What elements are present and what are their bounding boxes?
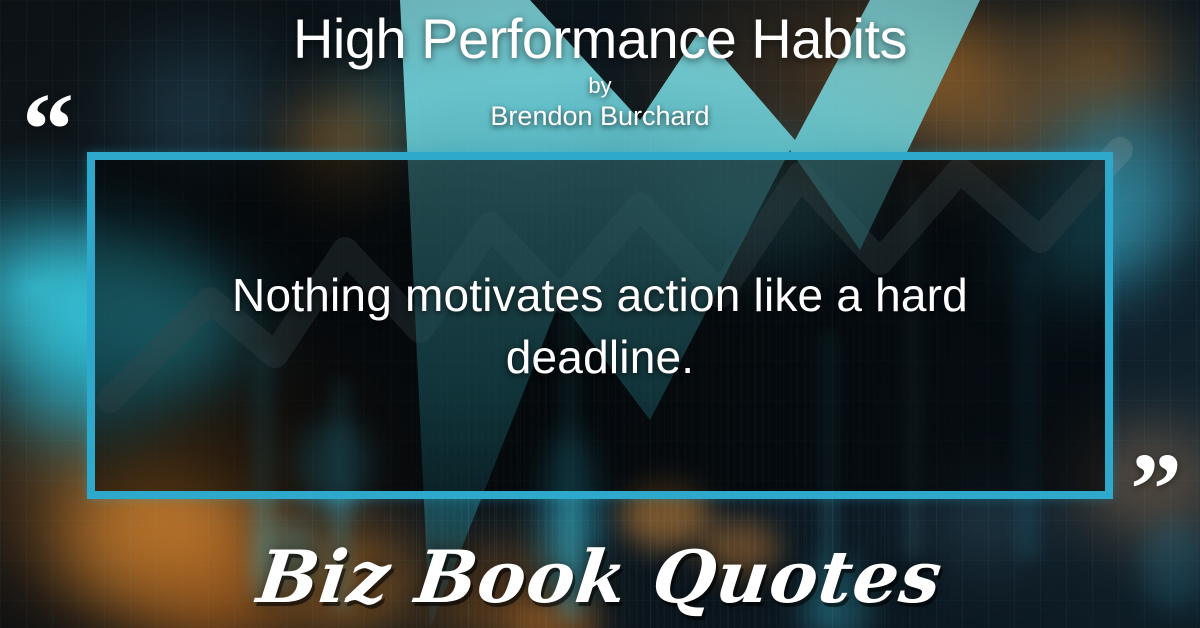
quote-card: High Performance Habits by Brendon Burch…: [0, 0, 1200, 628]
quote-frame: Nothing motivates action like a hard dea…: [87, 152, 1113, 499]
quote-open-mark: “: [22, 78, 76, 182]
quote-close-mark: ”: [1130, 438, 1184, 542]
header: High Performance Habits by Brendon Burch…: [0, 8, 1200, 132]
by-label: by: [0, 72, 1200, 100]
page-title: High Performance Habits: [0, 8, 1200, 70]
quote-text: Nothing motivates action like a hard dea…: [95, 160, 1105, 491]
brand-logo: Biz Book Quotes: [0, 534, 1200, 620]
author-name: Brendon Burchard: [0, 100, 1200, 132]
